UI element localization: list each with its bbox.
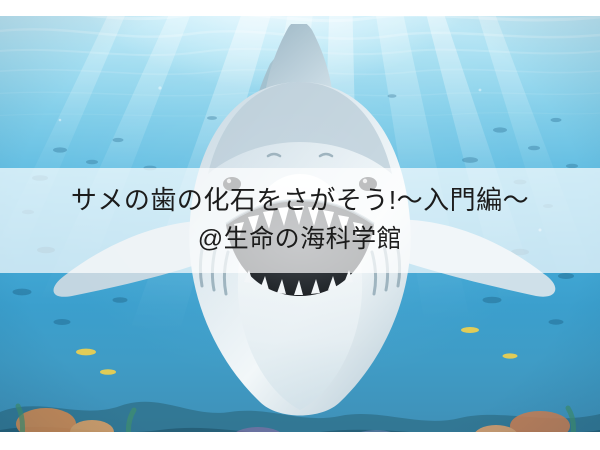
title-line-2: @生命の海科学館 xyxy=(0,220,600,259)
bottom-white-bar xyxy=(0,432,600,450)
top-white-bar xyxy=(0,0,600,16)
poster-image: サメの歯の化石をさがそう!〜入門編〜 @生命の海科学館 xyxy=(0,0,600,450)
title-overlay: サメの歯の化石をさがそう!〜入門編〜 @生命の海科学館 xyxy=(0,168,600,273)
coral-reef xyxy=(0,320,600,450)
title-line-1: サメの歯の化石をさがそう!〜入門編〜 xyxy=(0,180,600,220)
